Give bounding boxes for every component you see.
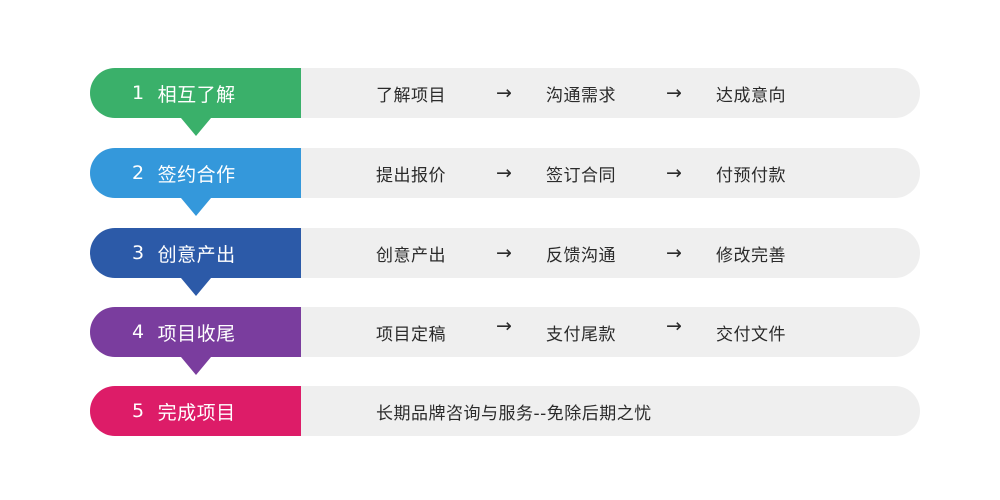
step-label: 达成意向 (716, 81, 802, 106)
stage-title: 创意产出 (158, 240, 236, 267)
stage-title: 完成项目 (158, 398, 236, 425)
step-label: 项目定稿 (376, 320, 462, 345)
flow-row-5: 5 完成项目 长期品牌咨询与服务--免除后期之忧 (90, 386, 920, 436)
row-steps-4: 项目定稿 → 支付尾款 → 交付文件 (301, 307, 920, 357)
arrow-right-icon: → (462, 164, 546, 183)
stage-pointer-4 (181, 357, 211, 375)
step-label: 反馈沟通 (546, 241, 632, 266)
step-label: 付预付款 (716, 161, 802, 186)
arrow-right-icon: → (632, 244, 716, 263)
arrow-right-icon: → (632, 164, 716, 183)
step-label: 沟通需求 (546, 81, 632, 106)
step-label: 签订合同 (546, 161, 632, 186)
step-label: 提出报价 (376, 161, 462, 186)
arrow-right-icon: → (632, 317, 716, 336)
stage-number: 3 (132, 242, 145, 264)
flow-row-2: 2 签约合作 提出报价 → 签订合同 → 付预付款 (90, 148, 920, 198)
flow-row-1: 1 相互了解 了解项目 → 沟通需求 → 达成意向 (90, 68, 920, 118)
stage-chip-2[interactable]: 2 签约合作 (90, 148, 301, 198)
stage-pointer-3 (181, 278, 211, 296)
flow-row-3: 3 创意产出 创意产出 → 反馈沟通 → 修改完善 (90, 228, 920, 278)
stage-pointer-2 (181, 198, 211, 216)
step-label: 支付尾款 (546, 320, 632, 345)
stage-number: 1 (132, 82, 145, 104)
stage-title: 相互了解 (158, 80, 236, 107)
stage-number: 4 (132, 321, 145, 343)
stage-number: 2 (132, 162, 145, 184)
row-steps-2: 提出报价 → 签订合同 → 付预付款 (301, 148, 920, 198)
stage-number: 5 (132, 400, 145, 422)
row-steps-3: 创意产出 → 反馈沟通 → 修改完善 (301, 228, 920, 278)
step-label: 交付文件 (716, 320, 802, 345)
stage-title: 项目收尾 (158, 319, 236, 346)
arrow-right-icon: → (632, 84, 716, 103)
summary-text: 长期品牌咨询与服务--免除后期之忧 (376, 399, 652, 424)
stage-chip-5[interactable]: 5 完成项目 (90, 386, 301, 436)
flow-row-4: 4 项目收尾 项目定稿 → 支付尾款 → 交付文件 (90, 307, 920, 357)
step-label: 了解项目 (376, 81, 462, 106)
row-steps-1: 了解项目 → 沟通需求 → 达成意向 (301, 68, 920, 118)
step-label: 创意产出 (376, 241, 462, 266)
row-summary-5: 长期品牌咨询与服务--免除后期之忧 (301, 386, 920, 436)
stage-pointer-1 (181, 118, 211, 136)
arrow-right-icon: → (462, 84, 546, 103)
process-flow-diagram: 1 相互了解 了解项目 → 沟通需求 → 达成意向 2 签约合作 提出报价 → … (0, 0, 1000, 500)
stage-chip-3[interactable]: 3 创意产出 (90, 228, 301, 278)
arrow-right-icon: → (462, 317, 546, 336)
arrow-right-icon: → (462, 244, 546, 263)
stage-chip-4[interactable]: 4 项目收尾 (90, 307, 301, 357)
step-label: 修改完善 (716, 241, 802, 266)
stage-chip-1[interactable]: 1 相互了解 (90, 68, 301, 118)
stage-title: 签约合作 (158, 160, 236, 187)
